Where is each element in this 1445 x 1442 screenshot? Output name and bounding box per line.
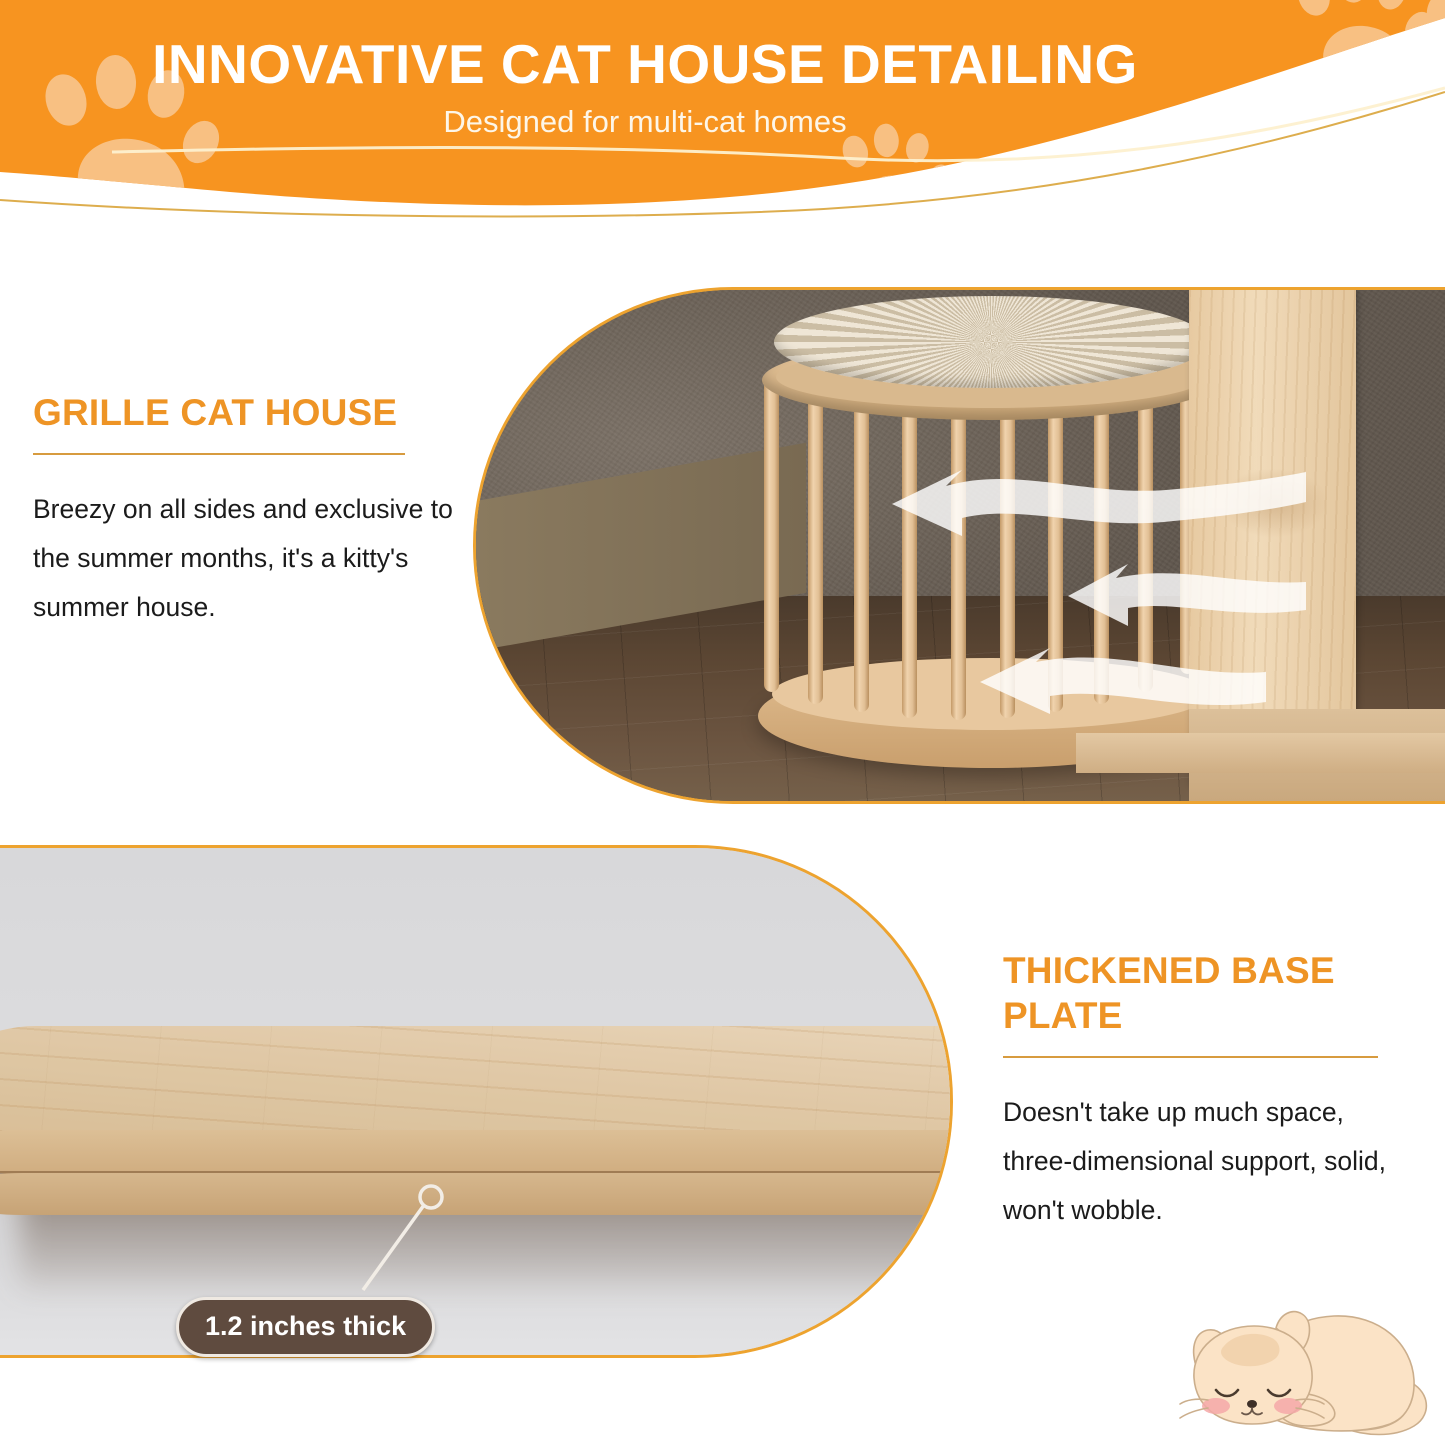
sleeping-cat-icon	[1168, 1300, 1436, 1440]
infographic-page: INNOVATIVE CAT HOUSE DETAILING Designed …	[0, 0, 1445, 1442]
page-title: INNOVATIVE CAT HOUSE DETAILING	[0, 32, 1290, 96]
feature-thickened-base-plate: THICKENED BASE PLATE Doesn't take up muc…	[1003, 948, 1415, 1235]
feature-body-text: Breezy on all sides and exclusive to the…	[33, 485, 463, 632]
feature-grille-cat-house: GRILLE CAT HOUSE Breezy on all sides and…	[33, 390, 463, 632]
page-subtitle: Designed for multi-cat homes	[0, 104, 1290, 140]
feature-title: GRILLE CAT HOUSE	[33, 390, 463, 435]
plank-front-edge-upper	[0, 1130, 953, 1174]
thickness-callout-label: 1.2 inches thick	[176, 1297, 435, 1357]
feature-body-text: Doesn't take up much space, three-dimens…	[1003, 1088, 1415, 1235]
airflow-arrows	[476, 290, 1445, 804]
cat-nose	[1247, 1400, 1257, 1408]
header-banner: INNOVATIVE CAT HOUSE DETAILING Designed …	[0, 0, 1445, 232]
header-orange-shape	[0, 0, 1445, 205]
base-plate-photo	[0, 845, 953, 1358]
grille-cat-house-photo	[473, 287, 1445, 804]
airflow-arrow-2	[1068, 564, 1306, 626]
base-plate-board	[0, 1026, 953, 1226]
feature-title: THICKENED BASE PLATE	[1003, 948, 1415, 1038]
airflow-arrow-3	[980, 648, 1266, 714]
plank-front-edge-lower	[0, 1173, 953, 1215]
feature-divider	[33, 453, 405, 455]
feature-divider	[1003, 1056, 1378, 1058]
airflow-arrow-1	[892, 470, 1306, 536]
